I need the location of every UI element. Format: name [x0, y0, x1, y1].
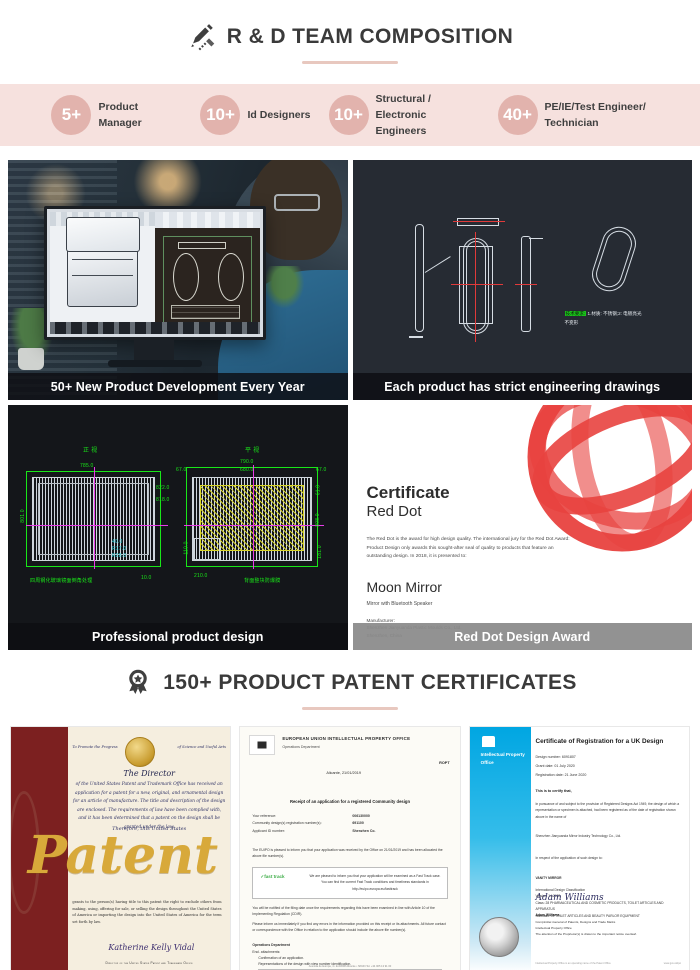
euipo-field-key-2: Applicant ID number:	[252, 828, 321, 835]
view-label-top: 平 视	[245, 445, 259, 454]
dim-r28: R28.0	[112, 553, 126, 559]
right-center-v	[253, 465, 254, 569]
uk-signature: Adam Williams	[535, 893, 603, 903]
uk-grant-date: Grant date: 01 July 2020	[535, 762, 586, 771]
cad-canvas-dark: 技术要求: 1.材质: 不锈钢;2: 电镀亮光 不变形	[353, 160, 693, 400]
certificate-product-sub: Mirror with Bluetooth Speaker	[367, 601, 433, 607]
eu-flag-icon	[249, 735, 275, 755]
stat-item: 10+ Id Designers	[191, 95, 319, 135]
stat-item: 5+ Product Manager	[42, 95, 191, 135]
workstation-photo	[8, 160, 348, 400]
technical-notes: 技术要求: 1.材质: 不锈钢;2: 电镀亮光	[565, 311, 642, 318]
left-center-v	[94, 467, 95, 569]
plant-right	[264, 266, 304, 308]
euipo-field-value-1: 006130000	[352, 813, 375, 820]
uk-side-band: Intellectual Property Office	[470, 727, 531, 970]
page-root: R & D TEAM COMPOSITION 5+ Product Manage…	[0, 0, 700, 970]
notes-line-2: 不变形	[565, 320, 579, 327]
top-view	[457, 218, 499, 226]
euipo-field-value-2: 691100	[352, 820, 375, 827]
right-note: 背面整块防爆膜	[244, 577, 280, 584]
notes-line-1: 1.材质: 不锈钢;2: 电镀亮光	[587, 311, 641, 316]
certificate-heading: Certificate	[367, 483, 450, 503]
cad-2d-view	[155, 212, 260, 334]
euipo-field-values: 006130000 691100 Shenzhen Co.	[352, 813, 375, 835]
suitcase-3d-model	[67, 249, 138, 308]
certificate-subheading: Red Dot	[367, 503, 422, 520]
page-title: R & D TEAM COMPOSITION	[227, 25, 513, 49]
euipo-footer: Avenida de Europa, 4 • E-03008 Alicante …	[252, 965, 447, 968]
right-leader	[529, 238, 543, 239]
gallery-row-1: 50+ New Product Development Every Year	[8, 160, 692, 400]
us-patent-wordmark: Patent	[18, 835, 229, 877]
dim-818: 818.0	[156, 497, 170, 503]
euipo-ref-code: ROPT	[439, 761, 450, 765]
scale-marker	[409, 336, 423, 338]
stat-label: PE/IE/Test Engineer/ Technician	[545, 99, 649, 132]
uk-signer-note: The attention of the Proprietor(s) is dr…	[535, 931, 681, 937]
dim-40: 40.0	[112, 539, 123, 545]
stat-count-bubble: 40+	[498, 95, 538, 135]
dim-61: 61.0	[315, 485, 321, 496]
gallery-row-2: 正 视 785.0 822.0 818.0 801.0 40.0 R17.0 R…	[8, 405, 692, 650]
side-view-bar	[415, 224, 424, 332]
euipo-field-key-1: Community design(s) registration number(…	[252, 820, 321, 827]
monitor-screen	[44, 206, 266, 340]
uk-footer-right: www.gov.uk/ipo	[664, 962, 681, 965]
top-center-line	[453, 221, 505, 222]
monitor-base	[108, 360, 202, 367]
dim-808: 808.0	[315, 513, 321, 527]
us-gold-seal-icon	[125, 737, 155, 767]
gallery-tile-red-dot-award[interactable]: Certificate Red Dot The Red Dot is the a…	[353, 405, 693, 650]
euipo-field-key-0: Your reference:	[252, 813, 321, 820]
patent-section-title: 150+ PRODUCT PATENT CERTIFICATES	[163, 671, 577, 695]
tile-caption: Each product has strict engineering draw…	[353, 373, 693, 400]
uk-crown-icon	[482, 736, 495, 747]
uk-certify-line: This is to certify that,	[535, 789, 571, 793]
red-dot-certificate: Certificate Red Dot The Red Dot is the a…	[353, 405, 693, 650]
euipo-para-2: Please inform us immediately if you find…	[252, 921, 447, 934]
fast-track-logo: ✓fast track	[260, 874, 284, 880]
dim-110: 110.0	[184, 541, 190, 554]
certificate-product-name: Moon Mirror	[367, 579, 442, 595]
euipo-para-1: You will be notified of the filing date …	[252, 905, 447, 918]
stat-count-bubble: 10+	[200, 95, 240, 135]
stat-item: 10+ Structural / Electronic Engineers	[320, 91, 489, 140]
uk-body: In pursuance of and subject to the provi…	[535, 801, 681, 820]
dim-10: 10.0	[141, 575, 152, 581]
patent-certificates-row: To Promote the Progress of Science and U…	[0, 726, 700, 970]
tile-caption: 50+ New Product Development Every Year	[8, 373, 348, 400]
us-signature-label: Director of the United States Patent and…	[77, 961, 222, 965]
plant-pot	[18, 348, 44, 370]
stat-item: 40+ PE/IE/Test Engineer/ Technician	[489, 95, 658, 135]
stat-label: Product Manager	[98, 99, 182, 132]
stat-count-bubble: 10+	[329, 95, 369, 135]
pencil-ruler-icon	[187, 22, 217, 52]
euipo-office-name: EUROPEAN UNION INTELLECTUAL PROPERTY OFF…	[282, 736, 410, 741]
uk-owner: Shenzhen Jianyuanda Mirror Industry Tech…	[535, 833, 681, 839]
certificate-body: The Red Dot is the award for high design…	[367, 536, 572, 562]
right-center-h	[184, 525, 324, 526]
patent-section-header: 150+ PRODUCT PATENT CERTIFICATES	[0, 650, 700, 710]
uk-signer-details: Comptroller-General of Patents, Designs …	[535, 919, 681, 937]
us-motto-right: of Science and Useful Arts	[178, 745, 226, 749]
gallery-tile-product-development[interactable]: 50+ New Product Development Every Year	[8, 160, 348, 400]
team-stats-band: 5+ Product Manager 10+ Id Designers 10+ …	[0, 84, 700, 146]
dim-680: 680.0	[240, 467, 254, 473]
dim-181: 181.0	[317, 545, 323, 559]
patent-card-uk[interactable]: Intellectual Property Office Certificate…	[469, 726, 690, 970]
horizontal-center-line	[451, 284, 503, 285]
patent-card-us[interactable]: To Promote the Progress of Science and U…	[10, 726, 231, 970]
euipo-intro: The EUIPO is pleased to inform you that …	[252, 847, 447, 860]
vertical-center-line	[475, 232, 476, 342]
leader-line	[424, 256, 450, 273]
glasses-icon	[274, 194, 320, 211]
patent-card-euipo[interactable]: EUROPEAN UNION INTELLECTUAL PROPERTY OFF…	[239, 726, 460, 970]
euipo-department: Operations Department	[282, 745, 319, 749]
uk-certificate-title: Certificate of Registration for a UK Des…	[535, 738, 663, 745]
cad-canvas-dimension: 正 视 785.0 822.0 818.0 801.0 40.0 R17.0 R…	[8, 405, 348, 650]
uk-footer-left: Intellectual Property Office is an opera…	[535, 962, 610, 965]
dim-67-right: 67.0	[316, 467, 327, 473]
notes-highlight: 技术要求:	[565, 311, 587, 316]
tile-caption: Red Dot Design Award	[353, 623, 693, 650]
os-taskbar	[50, 322, 260, 334]
right-center-line	[515, 284, 537, 285]
euipo-dept-heading: Operations Department	[252, 942, 447, 948]
euipo-heading: Receipt of an application for a register…	[240, 799, 459, 804]
us-director-heading: The Director	[72, 769, 226, 778]
stat-label: Structural / Electronic Engineers	[376, 91, 480, 140]
dim-822: 822.0	[156, 485, 170, 491]
dim-801: 801.0	[20, 509, 26, 523]
dim-210: 210.0	[194, 573, 208, 579]
dim-r17: R17.0	[112, 546, 126, 552]
euipo-fasttrack-box: ✓fast track We are pleased to inform you…	[252, 867, 447, 899]
rd-section-header: R & D TEAM COMPOSITION	[0, 0, 700, 64]
patent-title-underline	[302, 707, 398, 710]
front-view-pill-inner	[466, 241, 486, 331]
us-patent-footer: grants to the person(s) having title to …	[72, 899, 221, 925]
cutout-rect	[194, 538, 220, 560]
uk-embossed-seal-icon	[479, 917, 519, 957]
euipo-fasttrack-text: We are pleased to inform you that your a…	[309, 873, 440, 892]
stat-label: Id Designers	[247, 107, 310, 123]
cad-3d-view	[50, 212, 155, 334]
us-signature: Katherine Kelly Vidal	[99, 943, 204, 952]
euipo-place-date: Alicante, 21/01/2019	[326, 771, 361, 775]
uk-product: VANITY MIRROR	[535, 875, 681, 881]
us-motto-left: To Promote the Progress	[72, 745, 117, 749]
uk-office-block: Intellectual Property Office	[481, 751, 531, 767]
gallery-tile-engineering-drawings[interactable]: 技术要求: 1.材质: 不锈钢;2: 电镀亮光 不变形 Each product…	[353, 160, 693, 400]
left-center-h	[26, 525, 168, 526]
red-dot-sphere-icon	[522, 405, 692, 557]
title-underline	[302, 61, 398, 64]
dim-785: 785.0	[80, 463, 94, 469]
monitor-stand	[134, 340, 174, 362]
gallery-grid: 50+ New Product Development Every Year	[0, 160, 700, 650]
uk-meta-block: Design number: 6091807 Grant date: 01 Ju…	[535, 753, 586, 780]
dim-67-left: 67.0	[176, 467, 187, 473]
stat-count-bubble: 5+	[51, 95, 91, 135]
uk-registration-date: Registration date: 21 June 2020	[535, 771, 586, 780]
euipo-applicant: Shenzhen Co.	[352, 828, 375, 835]
gallery-tile-product-design[interactable]: 正 视 785.0 822.0 818.0 801.0 40.0 R17.0 R…	[8, 405, 348, 650]
uk-respect-line: In respect of the application of such de…	[535, 855, 681, 861]
award-medal-icon	[123, 668, 153, 698]
dim-790: 790.0	[240, 459, 254, 465]
fast-track-brand: fast track	[264, 874, 284, 879]
tile-caption: Professional product design	[8, 623, 348, 650]
euipo-field-keys: Your reference: Community design(s) regi…	[252, 813, 321, 835]
uk-design-number: Design number: 6091807	[535, 753, 586, 762]
left-note: 四周钢化玻璃镜面倒角处理	[30, 577, 92, 584]
uk-footer: Intellectual Property Office is an opera…	[535, 962, 681, 965]
uk-signer-name: Adam Williams	[535, 913, 559, 917]
view-label-front: 正 视	[83, 445, 97, 454]
